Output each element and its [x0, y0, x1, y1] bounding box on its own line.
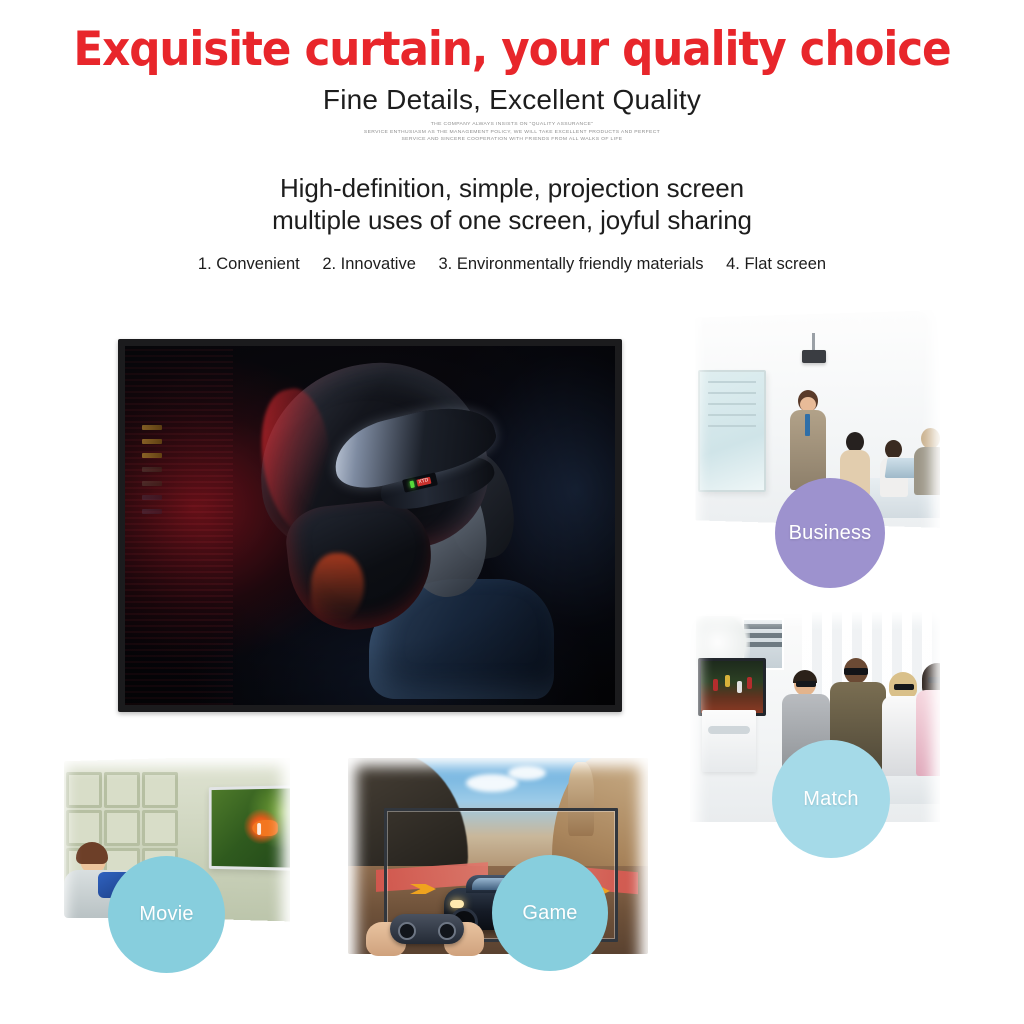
description-line-1: High-definition, simple, projection scre… — [0, 172, 1024, 204]
description-block: High-definition, simple, projection scre… — [0, 172, 1024, 236]
badge-business: Business — [775, 478, 885, 588]
page-headline: Exquisite curtain, your quality choice — [36, 22, 988, 77]
television-screen — [698, 658, 766, 716]
feature-item-4: 4. Flat screen — [726, 255, 826, 273]
tv-stand — [702, 710, 756, 772]
3d-glasses-icon — [844, 668, 868, 675]
gamepad-icon — [390, 914, 464, 944]
feature-list: 1. Convenient 2. Innovative 3. Environme… — [0, 255, 1024, 274]
game-photo — [348, 758, 648, 980]
feature-item-1: 1. Convenient — [198, 255, 300, 273]
feature-item-3: 3. Environmentally friendly materials — [438, 255, 703, 273]
badge-match-label: Match — [803, 788, 858, 811]
presenter-person — [788, 390, 828, 490]
description-line-2: multiple uses of one screen, joyful shar… — [0, 204, 1024, 236]
use-case-panel-match: Match — [690, 612, 940, 862]
player-hands-with-gamepad — [366, 908, 484, 964]
vignette-overlay — [125, 346, 615, 705]
hero-projection-screen: XTD — [118, 339, 622, 712]
use-case-panel-game: Game — [348, 758, 648, 980]
badge-game-label: Game — [522, 902, 577, 925]
use-case-panel-business: Business — [690, 300, 940, 550]
wall-projection-screen — [209, 785, 290, 872]
badge-movie-label: Movie — [139, 903, 193, 926]
badge-game: Game — [492, 855, 608, 971]
attendee-person-3 — [914, 428, 940, 494]
product-marketing-page: Exquisite curtain, your quality choice F… — [0, 0, 1024, 1024]
projection-board — [698, 370, 766, 492]
3d-glasses-icon — [894, 684, 914, 690]
badge-match: Match — [772, 740, 890, 858]
3d-glasses-icon — [928, 677, 940, 683]
viewer-person-4 — [916, 666, 940, 776]
use-case-panel-movie: Movie — [58, 758, 290, 988]
ceiling-projector-icon — [802, 350, 826, 363]
badge-movie: Movie — [108, 856, 225, 973]
page-subheadline: Fine Details, Excellent Quality — [0, 84, 1024, 116]
badge-business-label: Business — [789, 522, 872, 545]
hero-screen-image: XTD — [125, 346, 615, 705]
fineprint-line-1: THE COMPANY ALWAYS INSISTS ON "QUALITY A… — [0, 121, 1024, 128]
fineprint-line-2: SERVICE ENTHUSIASM AS THE MANAGEMENT POL… — [0, 129, 1024, 136]
feature-item-2: 2. Innovative — [322, 255, 416, 273]
fineprint-line-3: SERVICE AND SINCERE COOPERATION WITH FRI… — [0, 136, 1024, 143]
3d-glasses-icon — [796, 681, 816, 687]
fineprint-block: THE COMPANY ALWAYS INSISTS ON "QUALITY A… — [0, 121, 1024, 144]
